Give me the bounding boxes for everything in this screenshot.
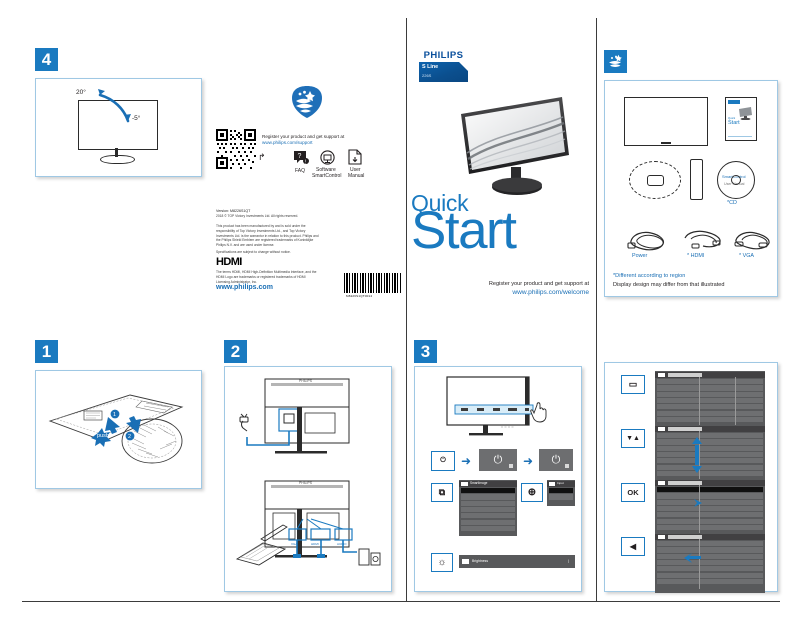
svg-text:push: push bbox=[97, 433, 109, 439]
legal-specs-note: Specifications are subject to change wit… bbox=[216, 250, 320, 255]
svg-text:1: 1 bbox=[113, 412, 116, 418]
back-button[interactable]: ◀ bbox=[621, 537, 645, 556]
accessory-vga-cable bbox=[731, 229, 773, 256]
smartimage-button[interactable]: ⧉ bbox=[431, 483, 453, 502]
faq-icon: ? ! bbox=[293, 150, 309, 170]
osd-row[interactable] bbox=[657, 392, 763, 397]
software-label-line2: SmartControl bbox=[312, 173, 341, 179]
scan-arrow-icon: ↱ bbox=[258, 152, 266, 163]
return-arrow-icon bbox=[681, 553, 703, 567]
osd-menu-2 bbox=[655, 425, 765, 485]
accessory-monitor bbox=[624, 97, 708, 146]
input-source-menu: Input bbox=[547, 480, 575, 506]
sequence-arrow-1: ➜ bbox=[461, 455, 471, 467]
input-menu-row[interactable] bbox=[549, 494, 573, 499]
osd-menu-1 bbox=[655, 371, 765, 431]
fold-line-vertical-2 bbox=[596, 18, 597, 602]
smartimage-menu-row[interactable] bbox=[461, 526, 515, 531]
philips-wordmark: PHILIPS bbox=[419, 48, 468, 62]
accessories-note-region: *Different according to region bbox=[613, 273, 685, 279]
panel-step-3: ⏻ ➜ ⏻ ➜ ⏻ ⧉ SmartImage ⊕ bbox=[414, 366, 582, 592]
support-register-url: www.philips.com/support bbox=[262, 140, 313, 145]
hdmi-logo: HDMI bbox=[216, 256, 242, 268]
osd-row[interactable] bbox=[657, 541, 763, 546]
brightness-button[interactable]: ☼ bbox=[431, 553, 453, 572]
osd-row[interactable] bbox=[657, 547, 763, 552]
monitor-hero-image bbox=[459, 95, 574, 205]
smartimage-menu-row[interactable] bbox=[461, 520, 515, 525]
menu-button[interactable]: ▭ bbox=[621, 375, 645, 394]
smartimage-menu-row[interactable] bbox=[461, 513, 515, 518]
accessory-power-label: Power bbox=[632, 253, 647, 259]
power-button-standby[interactable]: ⏻ bbox=[479, 449, 517, 471]
osd-row[interactable] bbox=[657, 525, 763, 530]
support-register-text: Register your product and get support at bbox=[262, 134, 344, 139]
legal-copyright: 2018 © TOP Victory Investments Ltd. All … bbox=[216, 214, 320, 219]
osd-row[interactable] bbox=[657, 493, 763, 498]
cover-title-start: Start bbox=[411, 208, 515, 253]
osd-row[interactable] bbox=[657, 506, 763, 511]
osd-row[interactable] bbox=[657, 433, 763, 438]
input-menu-row[interactable] bbox=[549, 488, 573, 493]
smartimage-menu-row[interactable] bbox=[461, 507, 515, 512]
panel-step-1: push 1 2 bbox=[35, 370, 202, 489]
osd-row[interactable] bbox=[657, 560, 763, 565]
power-button-on[interactable]: ⏻ bbox=[539, 449, 573, 471]
accessories-note-design: Display design may differ from that illu… bbox=[613, 282, 725, 288]
cable-connection-illustration: PHILIPS PHILIPS VG bbox=[231, 373, 385, 585]
osd-row[interactable] bbox=[657, 446, 763, 451]
product-model-label: 226S bbox=[422, 73, 431, 78]
smartimage-menu-row[interactable] bbox=[461, 488, 515, 493]
osd-row[interactable] bbox=[657, 398, 763, 403]
osd-row[interactable] bbox=[657, 458, 763, 463]
tilt-diagram: 20° -5° bbox=[36, 79, 201, 176]
scroll-arrows-icon bbox=[689, 433, 705, 477]
osd-row[interactable] bbox=[657, 500, 763, 505]
accessory-monitor-base bbox=[629, 161, 681, 199]
accessory-stand-neck bbox=[690, 159, 703, 200]
svg-text:2: 2 bbox=[128, 434, 131, 440]
philips-shield-logo bbox=[290, 85, 324, 119]
smartimage-menu-row[interactable] bbox=[461, 494, 515, 499]
tilt-arc-icon bbox=[94, 87, 154, 133]
enter-arrow-icon bbox=[683, 497, 705, 509]
user-manual-label-line2: Manual bbox=[348, 173, 364, 179]
smartimage-menu-row[interactable] bbox=[461, 501, 515, 506]
step-badge-3: 3 bbox=[414, 340, 437, 363]
panel-accessories: Start Quick SmartControl User Manual *CD bbox=[604, 80, 778, 297]
osd-menu-4 bbox=[655, 533, 765, 593]
up-down-button[interactable]: ▼▲ bbox=[621, 429, 645, 448]
barcode-number: M8226S1QT0014 bbox=[346, 294, 372, 298]
svg-text:PHILIPS: PHILIPS bbox=[299, 481, 313, 485]
tilt-angle-up: 20° bbox=[76, 89, 86, 96]
osd-row[interactable] bbox=[657, 579, 763, 584]
barcode bbox=[344, 273, 402, 293]
product-line-badge: S Line 226S bbox=[419, 62, 468, 82]
osd-row[interactable] bbox=[657, 452, 763, 457]
svg-text:AUDIO: AUDIO bbox=[337, 542, 347, 546]
osd-row[interactable] bbox=[657, 385, 763, 390]
cut-line-bottom bbox=[22, 601, 780, 602]
accessory-cd-rom: SmartControl User Manual bbox=[717, 161, 755, 199]
box-contents-icon bbox=[604, 50, 627, 73]
ok-button[interactable]: OK bbox=[621, 483, 645, 502]
osd-row[interactable] bbox=[657, 471, 763, 476]
accessory-quick-start-guide: Start Quick bbox=[725, 97, 757, 141]
step-badge-1: 1 bbox=[35, 340, 58, 363]
osd-row[interactable] bbox=[657, 519, 763, 524]
product-line-label: S Line bbox=[422, 64, 438, 70]
hdmi-trademark-text: The terms HDMI, HDMI High-Definition Mul… bbox=[216, 270, 320, 284]
accessory-vga-label: * VGA bbox=[739, 253, 754, 259]
legal-body: This product has been manufactured by an… bbox=[216, 224, 320, 248]
osd-row[interactable] bbox=[657, 417, 763, 422]
accessory-power-cable bbox=[625, 229, 669, 256]
fold-line-vertical-1 bbox=[406, 18, 407, 602]
power-button-off[interactable]: ⏻ bbox=[431, 451, 455, 471]
svg-text:!: ! bbox=[305, 159, 306, 165]
osd-row[interactable] bbox=[657, 439, 763, 444]
smartimage-menu-title: SmartImage bbox=[470, 481, 487, 485]
cover-page: PHILIPS S Line 226S bbox=[411, 40, 593, 304]
osd-row[interactable] bbox=[657, 411, 763, 416]
svg-text:?: ? bbox=[298, 153, 302, 160]
svg-text:HDMI: HDMI bbox=[311, 542, 319, 546]
osd-row[interactable] bbox=[657, 566, 763, 571]
svg-text:PHILIPS: PHILIPS bbox=[299, 379, 313, 383]
osd-row[interactable] bbox=[657, 512, 763, 517]
sequence-arrow-2: ➜ bbox=[523, 455, 533, 467]
accessory-cd-label: *CD bbox=[727, 200, 737, 206]
accessory-hdmi-cable bbox=[680, 229, 724, 256]
panel-step-4: 20° -5° bbox=[35, 78, 202, 177]
panel-osd-navigation: ▭ ▼▲ bbox=[604, 362, 778, 592]
tilt-angle-down: -5° bbox=[132, 115, 140, 122]
brightness-label: Brightness bbox=[472, 559, 488, 563]
monitor-base-ellipse bbox=[100, 155, 135, 164]
quick-start-sheet: 4 20° -5° bbox=[0, 0, 802, 642]
osd-row[interactable] bbox=[657, 404, 763, 409]
panel-step-2: PHILIPS PHILIPS VG bbox=[224, 366, 392, 592]
osd-row[interactable] bbox=[657, 465, 763, 470]
svg-text:User Manual: User Manual bbox=[724, 182, 745, 186]
input-source-button[interactable]: ⊕ bbox=[521, 483, 543, 502]
osd-row[interactable] bbox=[657, 573, 763, 578]
osd-menu-3 bbox=[655, 479, 765, 539]
brightness-bar: Brightness | bbox=[459, 555, 575, 568]
monitor-osd-touch-illustration bbox=[441, 375, 557, 443]
osd-row[interactable] bbox=[657, 379, 763, 384]
osd-row-selected[interactable] bbox=[657, 487, 763, 492]
faq-label: FAQ bbox=[295, 168, 305, 174]
step-badge-2: 2 bbox=[224, 340, 247, 363]
osd-row[interactable] bbox=[657, 554, 763, 559]
smartimage-menu: SmartImage bbox=[459, 480, 517, 536]
accessory-hdmi-label: * HDMI bbox=[687, 253, 704, 259]
svg-text:SmartControl: SmartControl bbox=[722, 174, 746, 179]
cover-register-url: www.philips.com/welcome bbox=[411, 289, 589, 296]
step-badge-4: 4 bbox=[35, 48, 58, 71]
input-menu-title: Input bbox=[557, 481, 564, 485]
philips-url: www.philips.com bbox=[216, 284, 273, 291]
cover-register-text: Register your product and get support at bbox=[411, 281, 589, 287]
base-assembly-illustration: push 1 2 bbox=[42, 379, 194, 479]
qr-code bbox=[216, 129, 256, 169]
